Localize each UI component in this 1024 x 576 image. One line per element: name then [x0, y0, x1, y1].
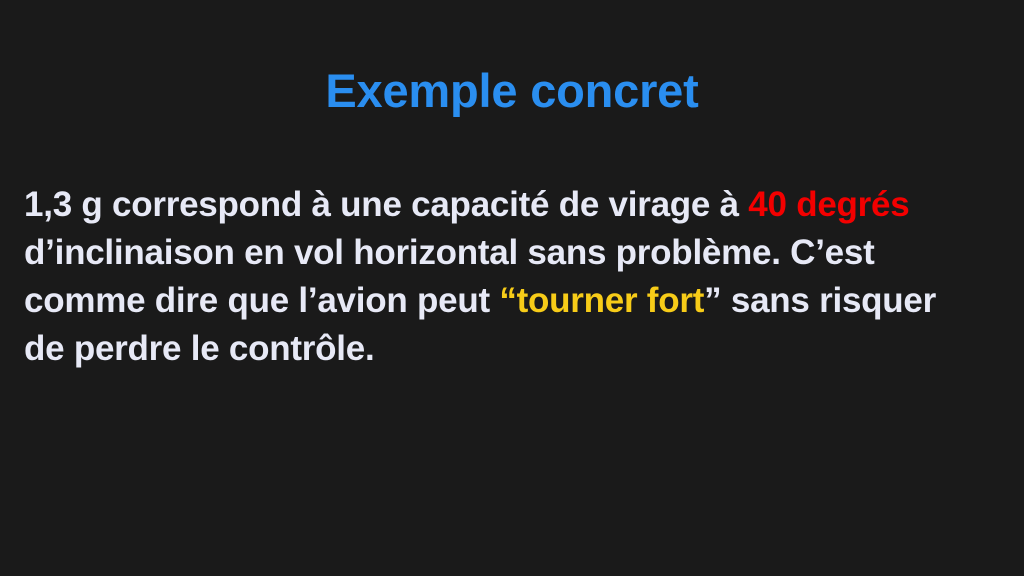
body-line-3-segment-1: comme dire que l’avion peut [24, 281, 499, 320]
body-line-3-segment-3: ” sans risquer [704, 281, 936, 320]
body-line-1-highlight-red: 40 degrés [748, 185, 909, 224]
slide-body-text: 1,3 g correspond à une capacité de virag… [24, 181, 1000, 373]
body-line-4: de perdre le contrôle. [24, 325, 1000, 373]
body-line-2-segment-1: d’inclinaison en vol horizontal sans pro… [24, 233, 875, 272]
body-line-4-segment-1: de perdre le contrôle. [24, 329, 374, 368]
body-line-3: comme dire que l’avion peut “tourner for… [24, 277, 1000, 325]
presentation-slide: Exemple concret 1,3 g correspond à une c… [0, 0, 1024, 576]
body-line-3-highlight-yellow: “tourner fort [499, 281, 704, 320]
slide-title: Exemple concret [0, 66, 1024, 116]
body-line-2: d’inclinaison en vol horizontal sans pro… [24, 229, 1000, 277]
body-line-1: 1,3 g correspond à une capacité de virag… [24, 181, 1000, 229]
body-line-1-segment-1: 1,3 g correspond à une capacité de virag… [24, 185, 748, 224]
